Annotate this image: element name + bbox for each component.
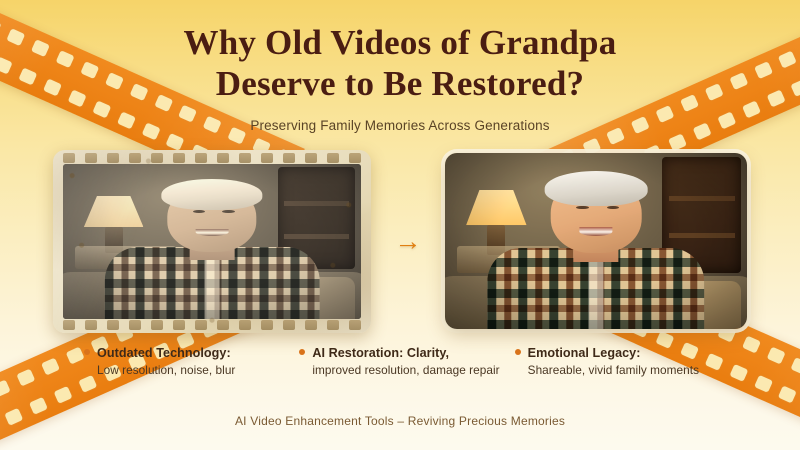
photo-sprocket-hole xyxy=(151,320,163,330)
photo-sprocket-hole xyxy=(195,320,207,330)
photo-sprocket-hole xyxy=(283,153,295,163)
photo-sprocket-hole xyxy=(129,153,141,163)
photo-sprocket-hole xyxy=(63,320,75,330)
photo-sprocket-hole xyxy=(261,153,273,163)
before-photo-damaged xyxy=(53,150,371,333)
photo-sprocket-hole xyxy=(85,153,97,163)
after-photo-restored xyxy=(445,153,747,329)
photo-sprocket-hole xyxy=(85,320,97,330)
photo-sprocket-hole xyxy=(327,153,339,163)
photo-sprocket-hole xyxy=(305,320,317,330)
bullet-dot-icon xyxy=(84,349,90,355)
photo-sprocket-hole xyxy=(283,320,295,330)
key-point-description: improved resolution, damage repair xyxy=(312,363,508,377)
photo-sprocket-hole xyxy=(261,320,273,330)
vignette xyxy=(445,153,747,329)
photo-sprocket-hole xyxy=(173,320,185,330)
photo-sprocket-hole xyxy=(239,153,251,163)
photo-sprocket-hole xyxy=(327,320,339,330)
page-subtitle: Preserving Family Memories Across Genera… xyxy=(0,118,800,133)
slide-canvas: Why Old Videos of Grandpa Deserve to Be … xyxy=(0,0,800,450)
key-point-heading-line: Outdated Technology: xyxy=(84,346,293,360)
key-point-description: Low resolution, noise, blur xyxy=(97,363,293,377)
key-point-heading-line: AI Restoration: Clarity, xyxy=(299,346,508,360)
key-point-item: Emotional Legacy: Shareable, vivid famil… xyxy=(515,346,730,377)
key-point-heading-line: Emotional Legacy: xyxy=(515,346,724,360)
photo-sprocket-hole xyxy=(305,153,317,163)
portrait-scene xyxy=(445,153,747,329)
bullet-dot-icon xyxy=(515,349,521,355)
footer-caption: AI Video Enhancement Tools – Reviving Pr… xyxy=(0,414,800,428)
photo-sprocket-hole xyxy=(239,320,251,330)
photo-sprocket-hole xyxy=(217,320,229,330)
key-point-title: Emotional Legacy: xyxy=(528,346,641,360)
key-point-item: Outdated Technology: Low resolution, noi… xyxy=(84,346,299,377)
photo-sprocket-hole xyxy=(63,153,75,163)
transformation-arrow: → xyxy=(391,228,425,255)
before-photo-image xyxy=(63,164,361,319)
photo-sprocket-hole xyxy=(217,153,229,163)
photo-sprocket-hole xyxy=(107,153,119,163)
page-title-line-2: Deserve to Be Restored? xyxy=(216,64,584,103)
photo-sprockets-top xyxy=(63,153,361,163)
photo-sprocket-hole xyxy=(173,153,185,163)
vignette xyxy=(63,164,361,319)
page-title-line-1: Why Old Videos of Grandpa xyxy=(184,23,617,62)
after-photo-image xyxy=(445,153,747,329)
before-after-comparison: → xyxy=(0,146,800,336)
bullet-dot-icon xyxy=(299,349,305,355)
photo-sprockets-bottom xyxy=(63,320,361,330)
key-point-description: Shareable, vivid family moments xyxy=(528,363,724,377)
photo-sprocket-hole xyxy=(349,320,361,330)
portrait-scene xyxy=(63,164,361,319)
key-points-row: Outdated Technology: Low resolution, noi… xyxy=(84,346,730,377)
photo-sprocket-hole xyxy=(151,153,163,163)
photo-sprocket-hole xyxy=(107,320,119,330)
photo-sprocket-hole xyxy=(129,320,141,330)
photo-sprocket-hole xyxy=(195,153,207,163)
photo-sprocket-hole xyxy=(349,153,361,163)
key-point-item: AI Restoration: Clarity, improved resolu… xyxy=(299,346,514,377)
heading-block: Why Old Videos of Grandpa Deserve to Be … xyxy=(0,22,800,133)
page-title: Why Old Videos of Grandpa Deserve to Be … xyxy=(0,22,800,105)
key-point-title: Outdated Technology: xyxy=(97,346,231,360)
key-point-title: AI Restoration: Clarity, xyxy=(312,346,449,360)
